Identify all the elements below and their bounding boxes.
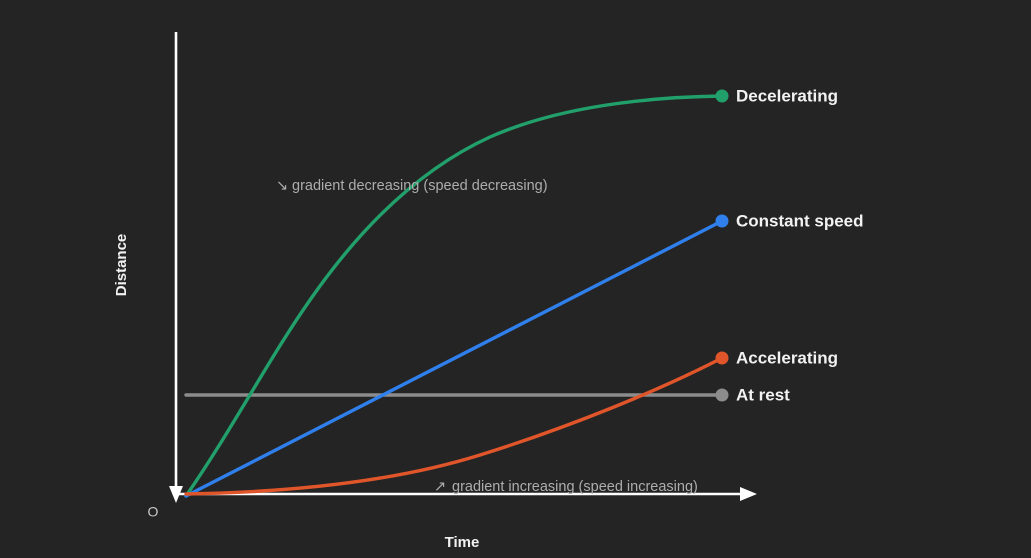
gradient-increasing-text: gradient increasing (speed increasing) (452, 479, 698, 495)
distance-time-graph: Time Distance O At rest Decelerating Con… (0, 0, 1031, 558)
series-accelerating[interactable]: Accelerating (186, 348, 838, 494)
gradient-increasing-arrow-icon: ↗ (434, 479, 446, 495)
constant-speed-endpoint-marker (716, 215, 729, 228)
constant-speed-label: Constant speed (736, 211, 864, 230)
accelerating-label: Accelerating (736, 348, 838, 367)
accelerating-endpoint-marker (716, 352, 729, 365)
origin-label: O (148, 504, 159, 520)
y-axis-title: Distance (113, 234, 130, 297)
chart-canvas: Time Distance O At rest Decelerating Con… (0, 0, 1031, 558)
constant-speed-line (186, 221, 722, 496)
axes-group (169, 32, 757, 503)
at-rest-endpoint-marker (716, 389, 729, 402)
decelerating-curve (186, 96, 722, 496)
decelerating-endpoint-marker (716, 90, 729, 103)
x-axis-title: Time (445, 534, 480, 551)
at-rest-label: At rest (736, 385, 790, 404)
decelerating-label: Decelerating (736, 86, 838, 105)
accelerating-curve (186, 358, 722, 494)
annotation-gradient-decreasing: ↘ gradient decreasing (speed decreasing) (276, 178, 548, 194)
gradient-decreasing-arrow-icon: ↘ (276, 178, 288, 194)
annotation-gradient-increasing: ↗ gradient increasing (speed increasing) (434, 479, 698, 495)
series-at-rest[interactable]: At rest (186, 385, 790, 404)
series-decelerating[interactable]: Decelerating (186, 86, 838, 496)
gradient-decreasing-text: gradient decreasing (speed decreasing) (292, 178, 548, 194)
x-axis-arrowhead-icon (740, 487, 757, 501)
